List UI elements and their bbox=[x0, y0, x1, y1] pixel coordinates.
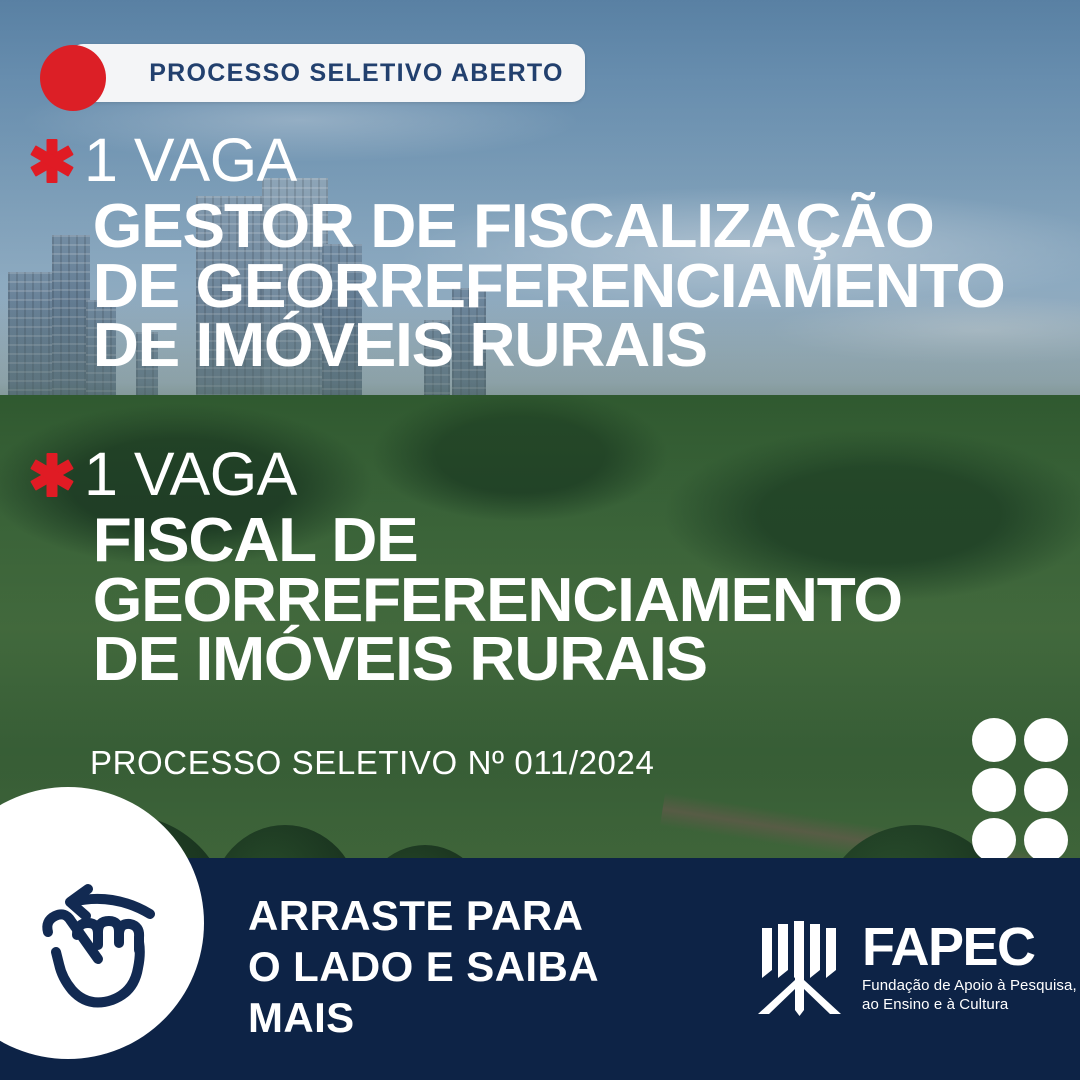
job-title-2: FISCAL DE GEORREFERENCIAMENTO DE IMÓVEIS… bbox=[0, 511, 1080, 690]
swipe-cta-text: ARRASTE PARA O LADO E SAIBA MAIS bbox=[248, 890, 599, 1044]
job-title-line: DE IMÓVEIS RURAIS bbox=[93, 630, 1080, 690]
red-asterisk-icon bbox=[26, 135, 78, 187]
hand-swipe-left-icon[interactable] bbox=[28, 880, 178, 1020]
red-circle-icon bbox=[40, 45, 106, 111]
fapec-tagline-line: Fundação de Apoio à Pesquisa, bbox=[862, 977, 1077, 995]
status-badge-label: PROCESSO SELETIVO ABERTO bbox=[91, 59, 564, 88]
cta-line: ARRASTE PARA bbox=[248, 890, 599, 941]
status-badge-pill: PROCESSO SELETIVO ABERTO bbox=[70, 44, 585, 102]
job-title-line: FISCAL DE bbox=[93, 511, 1080, 571]
vacancy-count-label: 1 VAGA bbox=[84, 130, 297, 191]
cta-line: O LADO E SAIBA bbox=[248, 941, 599, 992]
fapec-wordmark: FAPEC bbox=[862, 922, 1077, 973]
job-title-line: DE GEORREFERENCIAMENTO bbox=[93, 257, 1080, 317]
vacancy-count-label: 1 VAGA bbox=[84, 444, 297, 505]
vacancy-line: 1 VAGA bbox=[0, 130, 1080, 191]
recruitment-poster: PROCESSO SELETIVO ABERTO 1 VAGA GESTOR D… bbox=[0, 0, 1080, 1080]
fapec-logo: FAPEC Fundação de Apoio à Pesquisa, ao E… bbox=[752, 918, 1077, 1018]
job-listing-2: 1 VAGA FISCAL DE GEORREFERENCIAMENTO DE … bbox=[0, 444, 1080, 690]
job-listing-1: 1 VAGA GESTOR DE FISCALIZAÇÃO DE GEORREF… bbox=[0, 130, 1080, 376]
red-asterisk-icon bbox=[26, 449, 78, 501]
cta-line: MAIS bbox=[248, 992, 599, 1043]
process-number: PROCESSO SELETIVO Nº 011/2024 bbox=[90, 744, 654, 782]
job-title-line: GEORREFERENCIAMENTO bbox=[93, 571, 1080, 631]
fapec-tagline: Fundação de Apoio à Pesquisa, ao Ensino … bbox=[862, 977, 1077, 1014]
fapec-columns-icon bbox=[752, 918, 848, 1018]
fapec-tagline-line: ao Ensino e à Cultura bbox=[862, 996, 1077, 1014]
vacancy-line: 1 VAGA bbox=[0, 444, 1080, 505]
job-title-1: GESTOR DE FISCALIZAÇÃO DE GEORREFERENCIA… bbox=[0, 197, 1080, 376]
job-title-line: DE IMÓVEIS RURAIS bbox=[93, 316, 1080, 376]
job-title-line: GESTOR DE FISCALIZAÇÃO bbox=[93, 197, 1080, 257]
